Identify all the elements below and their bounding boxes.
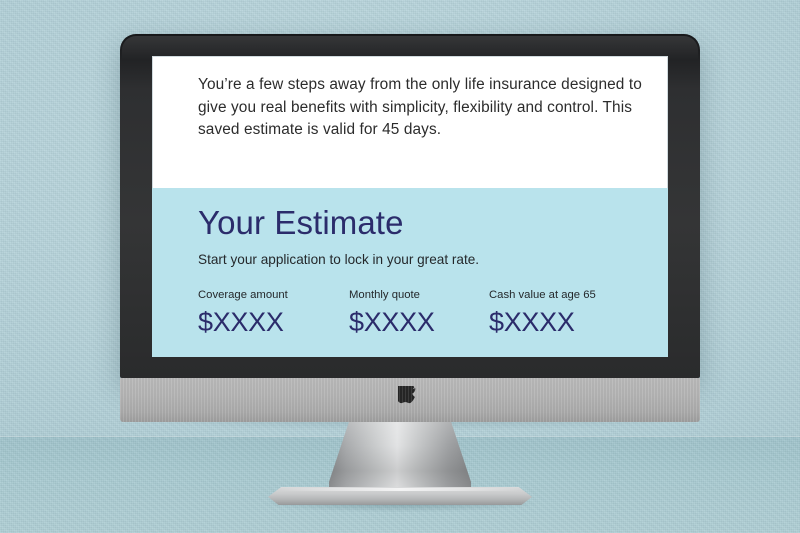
page-title: Your Estimate xyxy=(198,202,646,244)
figure-cash-value-age-65: Cash value at age 65 $XXXX xyxy=(489,288,596,338)
figure-label: Monthly quote xyxy=(349,288,489,303)
estimate-figures: Coverage amount $XXXX Monthly quote $XXX… xyxy=(198,288,646,338)
figure-value: $XXXX xyxy=(198,306,349,338)
apple-logo-icon xyxy=(398,386,422,414)
figure-label: Coverage amount xyxy=(198,288,349,303)
estimate-subtitle: Start your application to lock in your g… xyxy=(198,250,646,270)
figure-value: $XXXX xyxy=(489,306,596,338)
figure-monthly-quote: Monthly quote $XXXX xyxy=(349,288,489,338)
intro-paragraph: You’re a few steps away from the only li… xyxy=(198,74,646,142)
monitor-stand-neck xyxy=(329,422,471,490)
stand-base-highlight xyxy=(280,488,520,491)
figure-coverage-amount: Coverage amount $XXXX xyxy=(198,288,349,338)
monitor-screen: You’re a few steps away from the only li… xyxy=(152,56,668,357)
estimate-panel: Your Estimate Start your application to … xyxy=(152,188,668,357)
scene: You’re a few steps away from the only li… xyxy=(0,0,800,533)
intro-section: You’re a few steps away from the only li… xyxy=(152,56,668,142)
imac-monitor: You’re a few steps away from the only li… xyxy=(120,34,700,378)
figure-label: Cash value at age 65 xyxy=(489,288,596,303)
figure-value: $XXXX xyxy=(349,306,489,338)
monitor-chin xyxy=(120,378,700,422)
